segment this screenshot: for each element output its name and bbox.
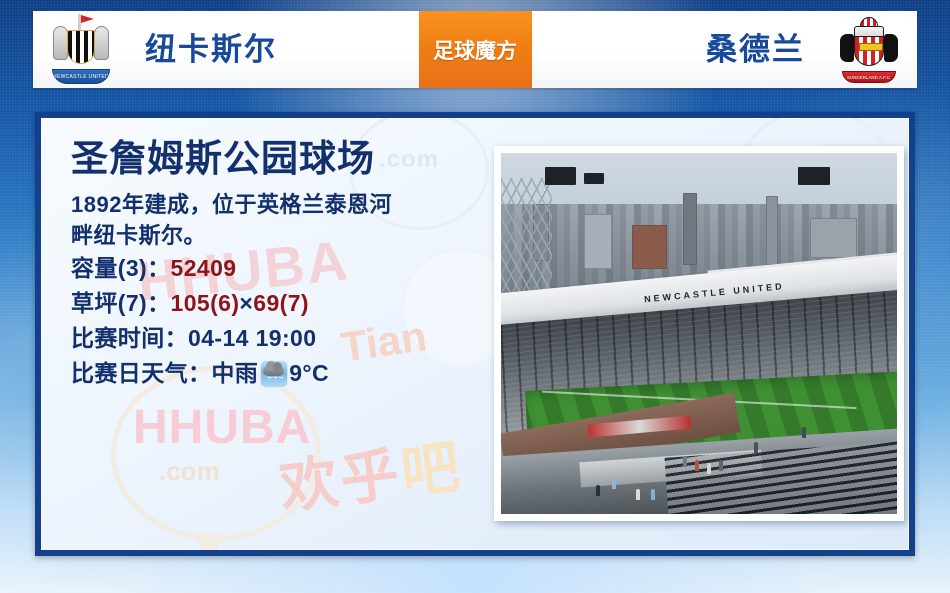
photo-building (683, 193, 697, 265)
capacity-row: 容量(3)： 52409 (71, 251, 491, 286)
crest-seahorse-left-icon (53, 26, 68, 60)
photo-spectator (683, 456, 687, 467)
stadium-photo: NEWCASTLE UNITED (501, 153, 897, 514)
stadium-details-column: 圣詹姆斯公园球场 1892年建成，位于英格兰泰恩河 畔纽卡斯尔。 容量(3)： … (71, 140, 491, 391)
match-weather-row: 比赛日天气： 中雨 9°C (71, 356, 491, 391)
pitch-length-value: 105(6) (171, 286, 240, 321)
photo-spectator (754, 442, 758, 453)
pitch-size-row: 草坪(7)： 105(6) × 69(7) (71, 286, 491, 321)
crest-ribbon-text: NEWCASTLE UNITED (52, 69, 110, 84)
stadium-info-panel: .com .com HHUBA Tian HHUBA .com 欢乎吧 圣詹姆斯… (35, 112, 915, 556)
newcastle-united-crest-icon: NEWCASTLE UNITED (50, 14, 112, 86)
photo-spectator (719, 460, 723, 471)
stadium-photo-frame[interactable]: NEWCASTLE UNITED (494, 146, 904, 521)
match-header-bar: NEWCASTLE UNITED 纽卡斯尔 足球魔方 桑德兰 SUNDERLAN… (33, 11, 917, 88)
watermark-speech-bubble (111, 366, 321, 541)
weather-label: 比赛日天气： (71, 356, 211, 391)
photo-spectator (651, 489, 655, 500)
photo-floodlight (545, 167, 577, 185)
photo-spectator (596, 485, 600, 496)
match-time-label: 比赛时间： (71, 321, 188, 356)
photo-spectator (612, 478, 616, 489)
stadium-description-line-1: 1892年建成，位于英格兰泰恩河 (71, 189, 491, 220)
pitch-width-value: 69(7) (253, 286, 309, 321)
watermark-hhuba-bubble-text: HHUBA (133, 400, 311, 455)
pitch-multiply-sign: × (239, 286, 253, 321)
stadium-description-line-2: 畔纽卡斯尔。 (71, 220, 491, 251)
cloud-shape (263, 366, 284, 376)
watermark-huanhuba-part-a: 欢乎 (276, 441, 405, 520)
pitch-label: 草坪(7)： (71, 286, 171, 321)
brand-logo-football-magic-cube[interactable]: 足球魔方 (419, 11, 532, 88)
away-team-crest-slot: SUNDERLAND A.F.C. (821, 14, 917, 86)
capacity-label: 容量(3)： (71, 251, 171, 286)
photo-spectator (707, 463, 711, 474)
weather-value: 中雨 (211, 356, 258, 391)
stadium-title: 圣詹姆斯公园球场 (71, 140, 491, 179)
capacity-value: 52409 (171, 251, 237, 286)
match-time-row: 比赛时间： 04-14 19:00 (71, 321, 491, 356)
photo-building (632, 225, 668, 268)
watermark-huanhuba-part-b: 吧 (397, 434, 465, 506)
crest-shield-icon (854, 26, 884, 66)
crest-flag-icon (78, 14, 81, 32)
home-team-name: 纽卡斯尔 (129, 34, 419, 65)
photo-floodlight (798, 167, 830, 185)
photo-spectator (802, 427, 806, 438)
crest-shield-icon (67, 30, 95, 64)
temperature-value: 9°C (289, 356, 329, 391)
photo-spectator (695, 460, 699, 471)
crest-lion-left-icon (840, 34, 854, 62)
sunderland-afc-crest-icon: SUNDERLAND A.F.C. (838, 14, 900, 86)
match-time-value: 04-14 19:00 (188, 321, 316, 356)
photo-building (584, 214, 612, 268)
crest-lion-right-icon (884, 34, 898, 62)
photo-floodlight (584, 173, 604, 184)
crest-seahorse-right-icon (94, 26, 109, 60)
crest-ribbon-text: SUNDERLAND A.F.C. (842, 71, 896, 83)
watermark-huanhuba: 欢乎吧 (275, 419, 467, 525)
photo-building (766, 196, 778, 265)
raindrops-shape (265, 377, 283, 385)
away-team-name: 桑德兰 (532, 34, 822, 65)
photo-building (810, 218, 858, 258)
home-team-crest-slot: NEWCASTLE UNITED (33, 14, 129, 86)
rain-cloud-icon (260, 360, 288, 388)
photo-spectator (636, 489, 640, 500)
photo-stadium-signage: NEWCASTLE UNITED (644, 281, 785, 304)
watermark-com-text-3: .com (159, 456, 220, 487)
